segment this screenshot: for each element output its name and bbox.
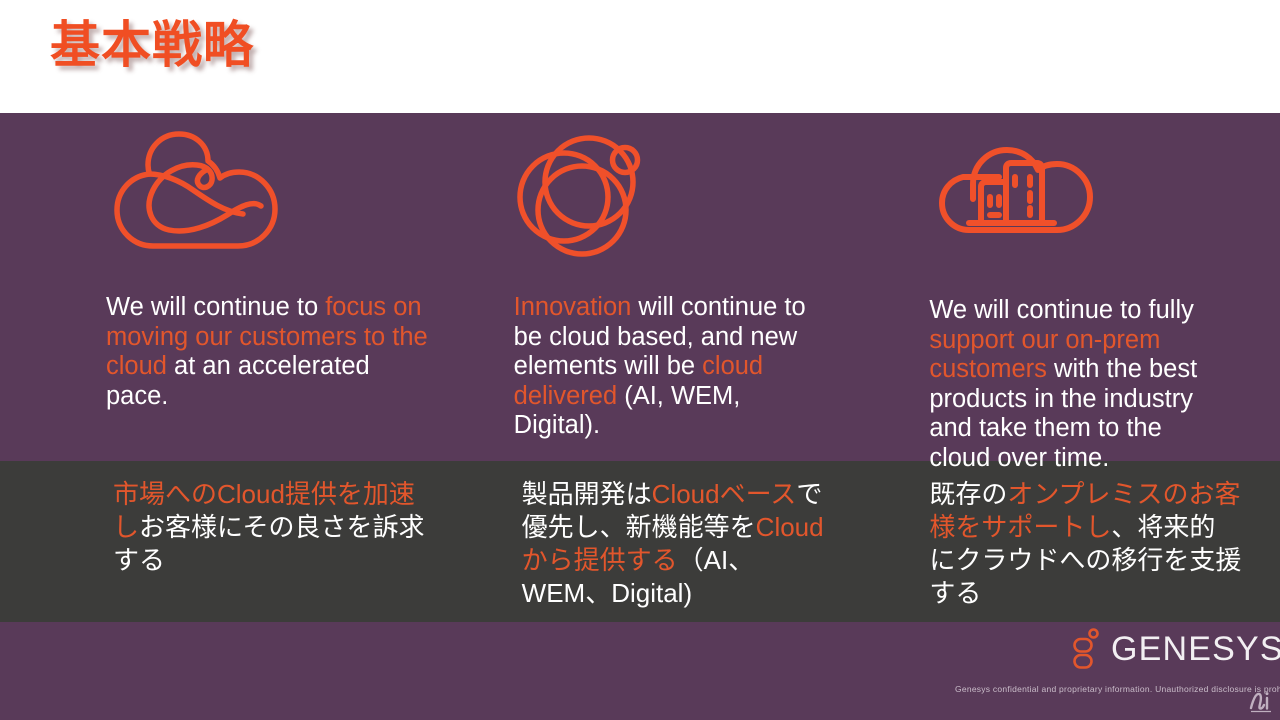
- column-english-text: Innovation will continue to be cloud bas…: [514, 293, 834, 441]
- ai-watermark-logo: [1248, 688, 1274, 714]
- columns-container: We will continue to focus on moving our …: [0, 113, 1280, 622]
- column-japanese-text: 既存のオンプレミスのお客様をサポートし、将来的にクラウドへの移行を支援する: [929, 478, 1241, 610]
- text-segment-0: Innovation: [514, 293, 632, 321]
- text-segment-1: お客様にその良さを訴求する: [113, 512, 425, 575]
- innovation-circles-icon: [512, 129, 662, 259]
- genesys-wordmark: GENESYS™: [1111, 632, 1280, 666]
- genesys-wordmark-text: GENESYS: [1111, 630, 1280, 668]
- cloud-infinity-icon: [103, 129, 281, 259]
- column-cloud-focus: We will continue to focus on moving our …: [0, 113, 427, 622]
- text-segment-0: We will continue to fully: [929, 296, 1194, 324]
- text-segment-1: Cloudベース: [652, 479, 797, 509]
- text-segment-0: 製品開発は: [522, 479, 652, 509]
- column-english-text: We will continue to fully support our on…: [929, 296, 1229, 473]
- genesys-logo-mark: [1072, 628, 1102, 670]
- column-innovation: Innovation will continue to be cloud bas…: [427, 113, 854, 622]
- column-on-prem: We will continue to fully support our on…: [853, 113, 1280, 622]
- text-segment-0: We will continue to: [106, 293, 325, 321]
- column-japanese-text: 製品開発はCloudベースで優先し、新機能等をCloudから提供する（AI、WE…: [522, 478, 842, 610]
- column-english-text: We will continue to focus on moving our …: [106, 293, 436, 411]
- confidentiality-note: Genesys confidential and proprietary inf…: [955, 684, 1280, 694]
- text-segment-0: 既存の: [929, 479, 1007, 509]
- slide-canvas: 基本戦略 We will continue to focus on moving…: [0, 0, 1280, 720]
- cloud-onprem-building-icon: [933, 129, 1103, 259]
- column-japanese-text: 市場へのCloud提供を加速しお客様にその良さを訴求する: [113, 478, 438, 577]
- genesys-logo: GENESYS™: [1072, 628, 1280, 670]
- page-title: 基本戦略: [50, 18, 254, 73]
